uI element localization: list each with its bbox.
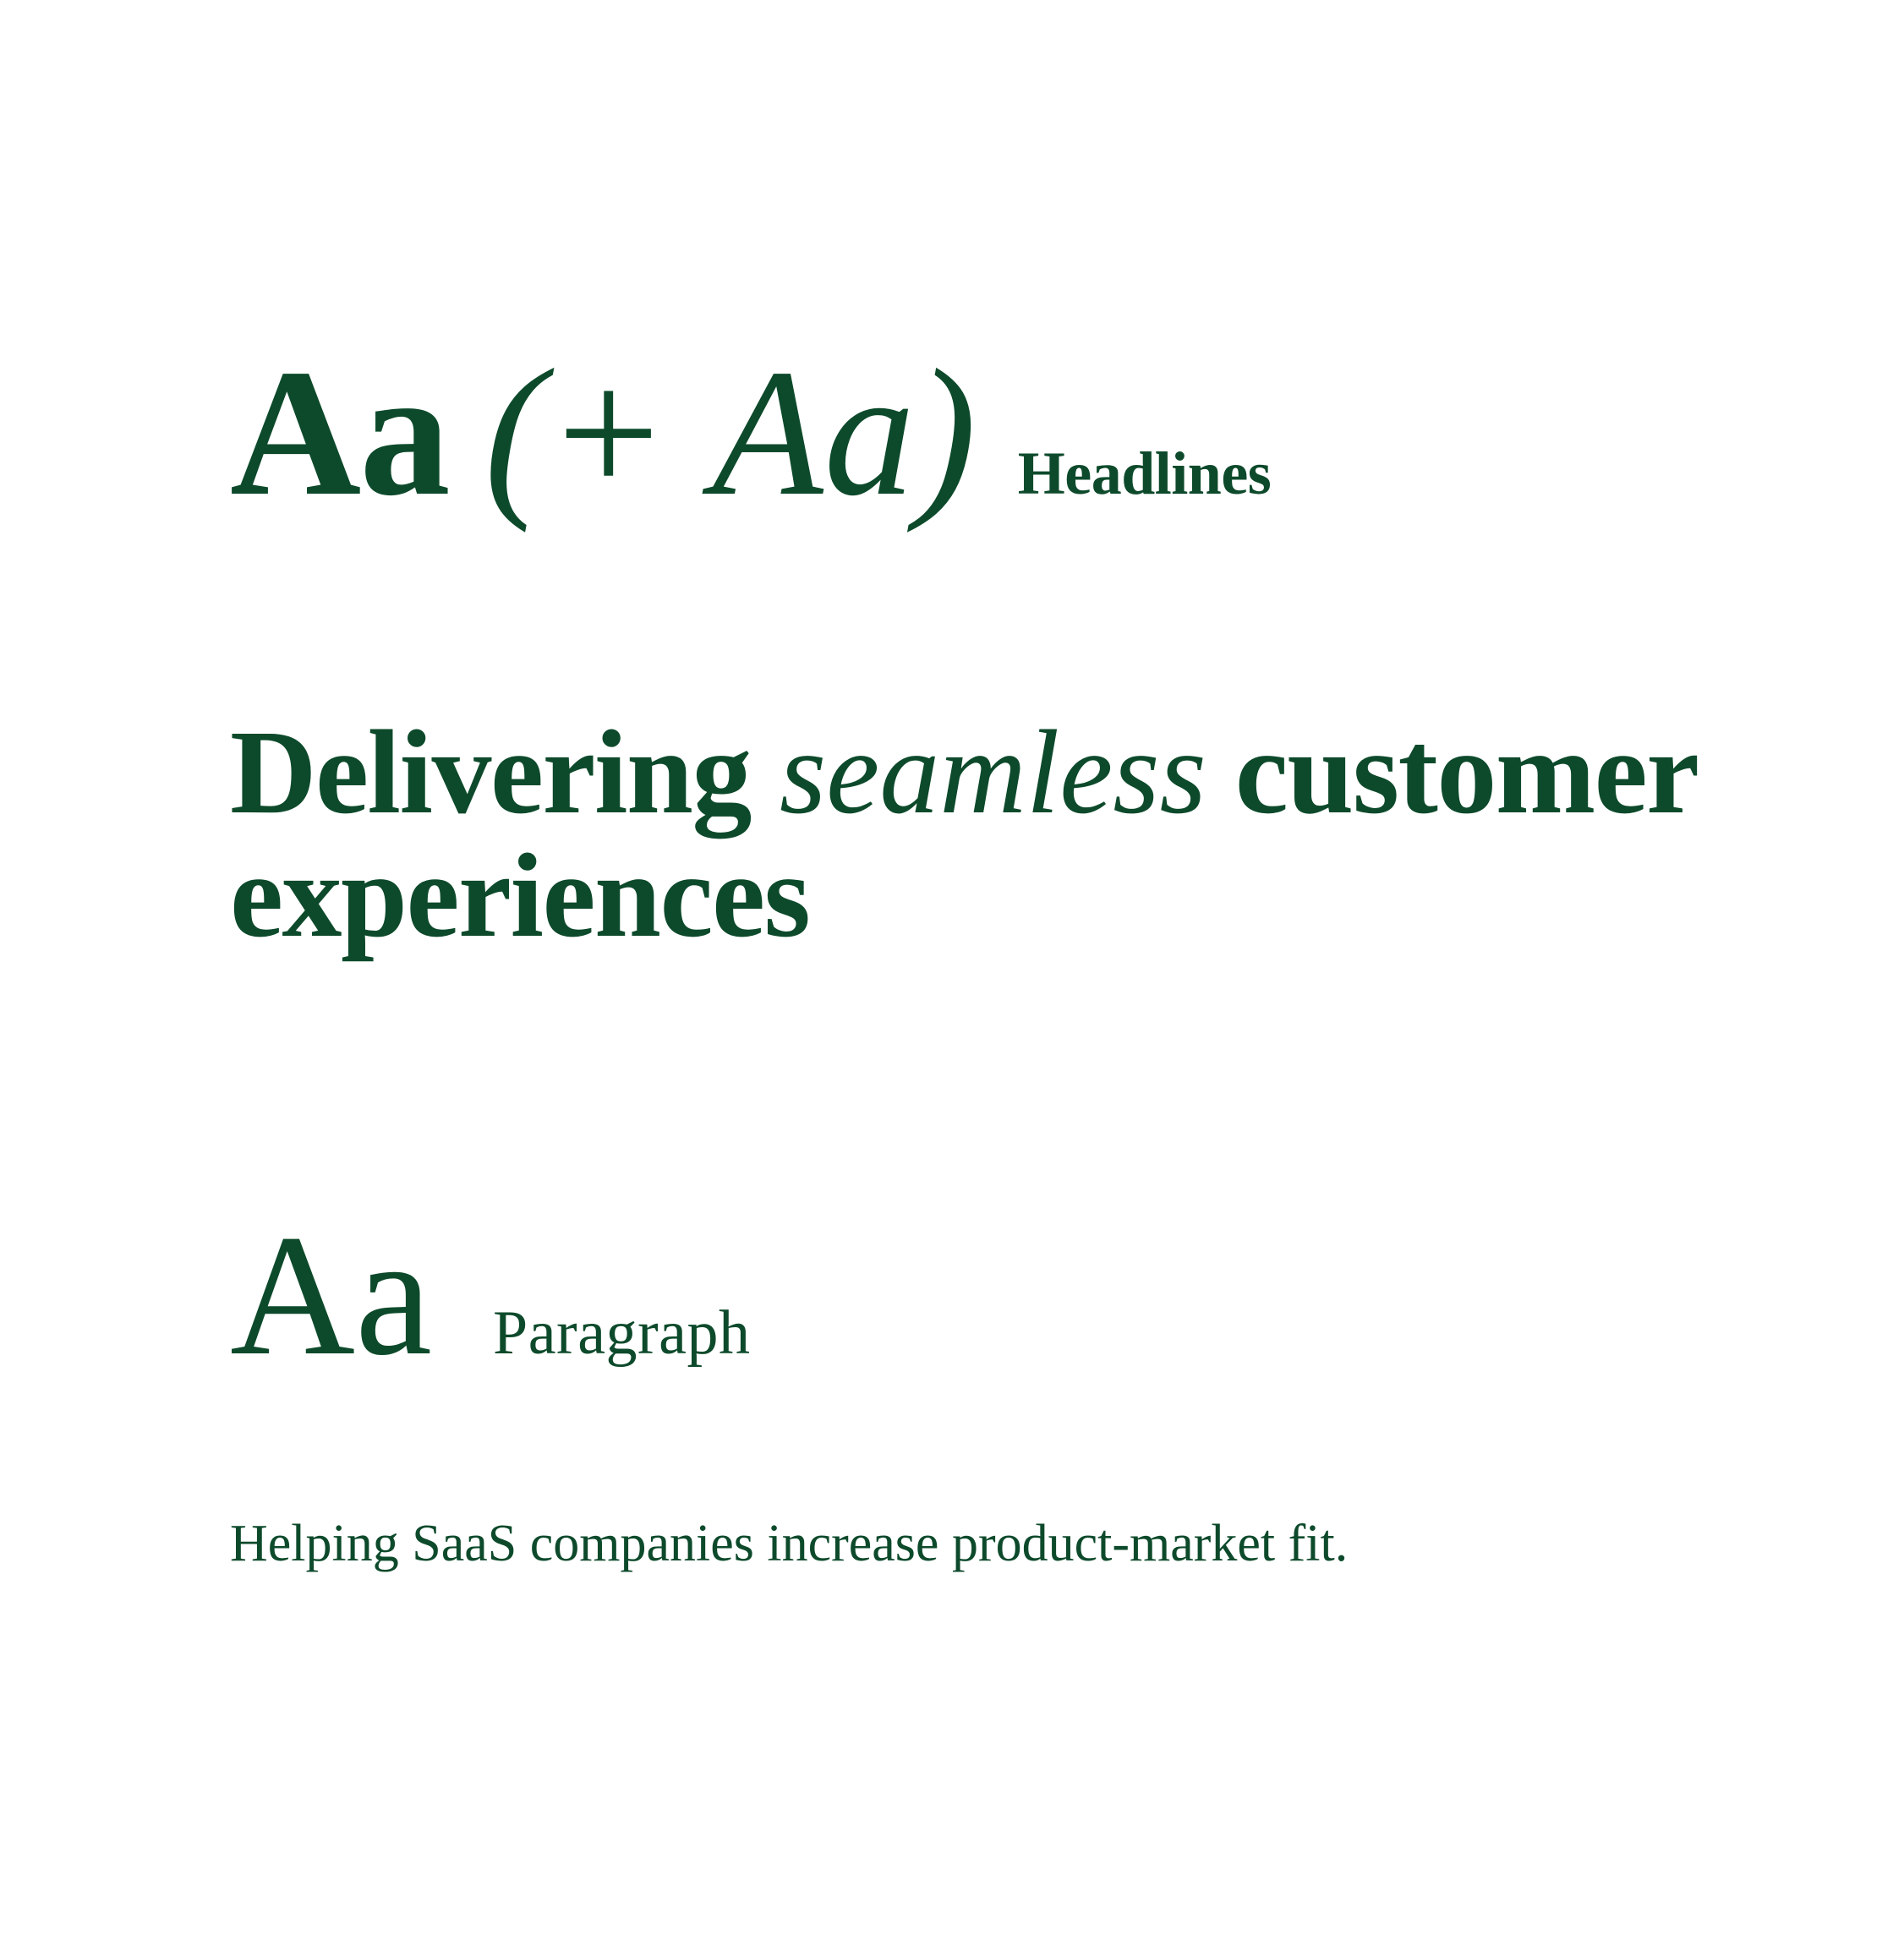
headline-sample-part-1: Delivering — [230, 705, 780, 839]
headline-sample-emphasis: seamless — [780, 705, 1206, 839]
typography-specimen-sheet: Aa (+ Aa) Headlines Delivering seamless … — [0, 0, 1904, 1951]
headlines-aa-italic-specimen: (+ Aa) — [484, 342, 977, 523]
headlines-specimen-row: Aa (+ Aa) Headlines — [230, 342, 1718, 523]
headlines-label: Headlines — [1018, 443, 1272, 504]
headlines-specimen-group: Aa (+ Aa) Headlines — [230, 342, 1718, 523]
paragraph-specimen-group: Aa Paragraph — [230, 1209, 1718, 1382]
headlines-aa-bold-specimen: Aa — [230, 342, 449, 523]
paragraph-aa-specimen: Aa — [230, 1209, 432, 1382]
headline-sample-text: Delivering seamless customer experiences — [230, 710, 1752, 958]
paragraph-sample-text: Helping SaaS companies increase product-… — [230, 1510, 1769, 1578]
paragraph-specimen-row: Aa Paragraph — [230, 1209, 1718, 1382]
paragraph-label: Paragraph — [493, 1302, 750, 1364]
